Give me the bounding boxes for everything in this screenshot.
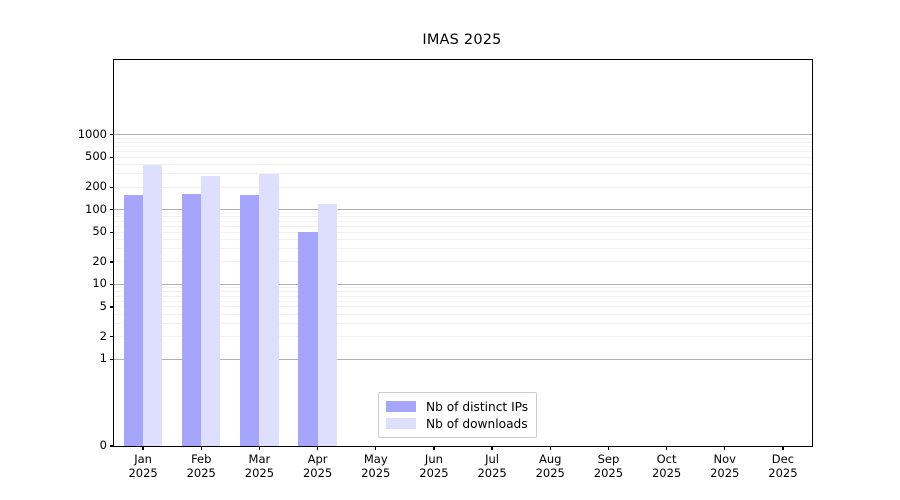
bar <box>182 194 201 446</box>
chart-legend: Nb of distinct IPs Nb of downloads <box>378 392 537 438</box>
y-tick-label: 2 <box>100 329 107 343</box>
x-tick-label-year: 2025 <box>710 467 739 481</box>
legend-label-downloads: Nb of downloads <box>426 417 528 431</box>
gridline-minor <box>114 164 812 165</box>
x-tick-label-year: 2025 <box>594 467 623 481</box>
x-tick-label-year: 2025 <box>128 467 157 481</box>
x-tick-label-month: Jan <box>128 453 157 467</box>
x-tick-mark <box>491 446 492 450</box>
y-tick-mark <box>110 261 114 262</box>
y-tick-mark <box>110 445 114 446</box>
x-tick-mark <box>201 446 202 450</box>
y-tick-label: 500 <box>85 149 107 163</box>
gridline-minor <box>114 151 812 152</box>
x-tick-label: Sep2025 <box>594 453 623 480</box>
y-tick-mark <box>110 306 114 307</box>
x-tick-label-month: Apr <box>303 453 332 467</box>
y-tick-mark <box>110 284 114 285</box>
y-tick-label: 1000 <box>78 127 107 141</box>
gridline-minor <box>114 157 812 158</box>
x-tick-label-year: 2025 <box>361 467 390 481</box>
x-tick-label: Jun2025 <box>419 453 448 480</box>
y-tick-label: 10 <box>92 276 107 290</box>
y-tick-label: 1 <box>100 351 107 365</box>
x-tick-label-month: May <box>361 453 390 467</box>
bar <box>318 204 337 446</box>
x-tick-label-month: Dec <box>768 453 797 467</box>
y-tick-label: 20 <box>92 254 107 268</box>
x-tick-mark <box>724 446 725 450</box>
x-tick-mark <box>782 446 783 450</box>
x-tick-label: Oct2025 <box>652 453 681 480</box>
gridline-minor <box>114 138 812 139</box>
x-tick-label: Aug2025 <box>536 453 565 480</box>
x-tick-label-year: 2025 <box>477 467 506 481</box>
x-tick-label-year: 2025 <box>536 467 565 481</box>
bar <box>201 176 220 446</box>
x-tick-mark <box>259 446 260 450</box>
x-tick-label-month: Nov <box>710 453 739 467</box>
legend-label-distinct-ips: Nb of distinct IPs <box>426 400 528 414</box>
bar <box>240 195 259 446</box>
x-tick-label-year: 2025 <box>419 467 448 481</box>
x-tick-mark <box>142 446 143 450</box>
bar <box>259 174 278 446</box>
gridline-minor <box>114 142 812 143</box>
x-tick-label-month: Aug <box>536 453 565 467</box>
x-tick-label: May2025 <box>361 453 390 480</box>
y-tick-mark <box>110 209 114 210</box>
gridline-major <box>114 134 812 135</box>
x-tick-label-month: Jun <box>419 453 448 467</box>
x-tick-label-year: 2025 <box>303 467 332 481</box>
y-tick-label: 200 <box>85 179 107 193</box>
gridline-minor <box>114 146 812 147</box>
bar <box>143 165 162 446</box>
y-tick-mark <box>110 336 114 337</box>
x-tick-label-month: Jul <box>477 453 506 467</box>
x-tick-label: Feb2025 <box>187 453 216 480</box>
x-tick-label: Apr2025 <box>303 453 332 480</box>
x-tick-label: Nov2025 <box>710 453 739 480</box>
x-tick-label-month: Feb <box>187 453 216 467</box>
legend-swatch-distinct-ips <box>386 401 416 412</box>
y-tick-mark <box>110 232 114 233</box>
x-tick-label-year: 2025 <box>652 467 681 481</box>
x-tick-label: Dec2025 <box>768 453 797 480</box>
legend-swatch-downloads <box>386 418 416 429</box>
y-tick-label: 50 <box>92 224 107 238</box>
gridline-minor <box>114 173 812 174</box>
chart-figure: IMAS 2025 01251020501002005001000 Jan202… <box>0 0 900 500</box>
x-tick-label: Jan2025 <box>128 453 157 480</box>
x-tick-label-year: 2025 <box>245 467 274 481</box>
bar <box>298 232 317 446</box>
plot-area: 01251020501002005001000 Jan2025Feb2025Ma… <box>113 59 813 447</box>
x-tick-label: Jul2025 <box>477 453 506 480</box>
y-tick-mark <box>110 157 114 158</box>
y-tick-mark <box>110 187 114 188</box>
y-tick-label: 0 <box>100 438 107 452</box>
x-tick-label-month: Sep <box>594 453 623 467</box>
x-tick-label: Mar2025 <box>245 453 274 480</box>
x-tick-mark <box>608 446 609 450</box>
x-tick-label-year: 2025 <box>768 467 797 481</box>
x-tick-mark <box>433 446 434 450</box>
bar <box>124 195 143 446</box>
plot-inner <box>114 60 812 446</box>
x-tick-label-month: Mar <box>245 453 274 467</box>
legend-item: Nb of downloads <box>386 415 528 432</box>
y-tick-label: 5 <box>100 299 107 313</box>
x-tick-label-month: Oct <box>652 453 681 467</box>
x-tick-label-year: 2025 <box>187 467 216 481</box>
x-tick-mark <box>550 446 551 450</box>
x-tick-mark <box>375 446 376 450</box>
y-tick-mark <box>110 359 114 360</box>
y-tick-label: 100 <box>85 202 107 216</box>
legend-item: Nb of distinct IPs <box>386 398 528 415</box>
y-tick-mark <box>110 134 114 135</box>
chart-title: IMAS 2025 <box>113 32 811 48</box>
x-tick-mark <box>317 446 318 450</box>
x-tick-mark <box>666 446 667 450</box>
